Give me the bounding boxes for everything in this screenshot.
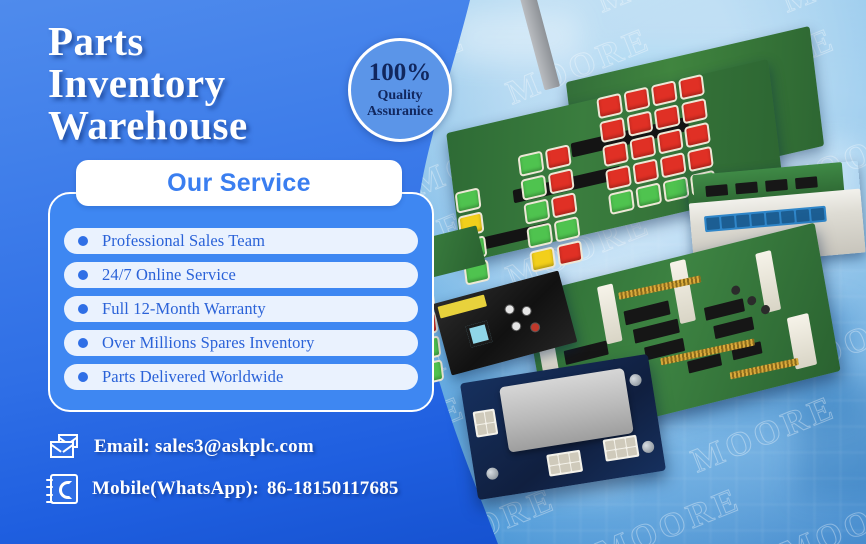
list-item[interactable]: Professional Sales Team — [64, 228, 418, 254]
contact-mobile[interactable]: Mobile(WhatsApp): 86-18150117685 — [50, 474, 399, 504]
bullet-dot-icon — [78, 338, 88, 348]
quality-assurance-badge: 100% Quality Assuranice — [348, 38, 452, 142]
product-photo-cluster — [420, 0, 866, 544]
list-item[interactable]: Full 12-Month Warranty — [64, 296, 418, 322]
badge-line-2: Assuranice — [367, 104, 433, 120]
headline-line-1: Parts — [48, 20, 408, 62]
bullet-dot-icon — [78, 304, 88, 314]
bullet-dot-icon — [78, 372, 88, 382]
phone-book-icon — [50, 474, 78, 504]
mobile-number: 86-18150117685 — [267, 478, 399, 500]
service-item-label: Full 12-Month Warranty — [102, 299, 266, 319]
service-title: Our Service — [76, 160, 402, 206]
service-item-label: Professional Sales Team — [102, 231, 265, 251]
contact-email[interactable]: Email: sales3@askplc.com — [50, 434, 314, 460]
list-item[interactable]: Parts Delivered Worldwide — [64, 364, 418, 390]
service-card: Professional Sales Team 24/7 Online Serv… — [48, 192, 434, 412]
service-list: Professional Sales Team 24/7 Online Serv… — [64, 228, 418, 390]
pcb-power-module — [460, 354, 666, 500]
card-bracket — [520, 0, 560, 90]
service-item-label: 24/7 Online Service — [102, 265, 236, 285]
list-item[interactable]: 24/7 Online Service — [64, 262, 418, 288]
promo-banner: MOOREMOOREMOOREMOOREMOOREMOOREMOOREMOORE… — [0, 0, 866, 544]
bullet-dot-icon — [78, 270, 88, 280]
service-item-label: Over Millions Spares Inventory — [102, 333, 314, 353]
service-item-label: Parts Delivered Worldwide — [102, 367, 283, 387]
email-label: Email: sales3@askplc.com — [94, 436, 314, 458]
badge-percent: 100% — [369, 60, 432, 85]
mobile-label: Mobile(WhatsApp): — [92, 478, 259, 500]
list-item[interactable]: Over Millions Spares Inventory — [64, 330, 418, 356]
bullet-dot-icon — [78, 236, 88, 246]
badge-line-1: Quality — [377, 88, 422, 104]
envelope-icon — [50, 434, 80, 460]
